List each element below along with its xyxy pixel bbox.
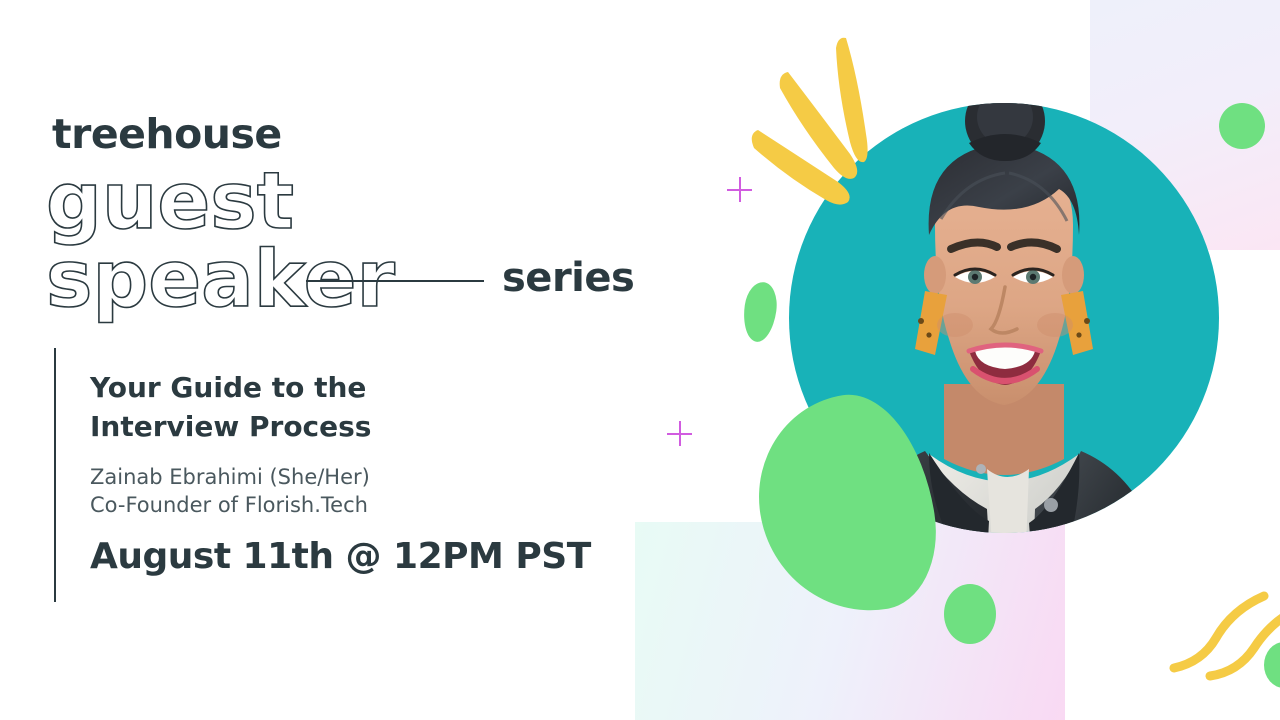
speaker-name: Zainab Ebrahimi (She/Her)	[90, 462, 550, 493]
green-dot-top-right-icon	[1219, 103, 1265, 149]
event-datetime: August 11th @ 12PM PST	[90, 536, 591, 577]
series-row: series	[306, 255, 626, 305]
slide-canvas: treehouse guest speaker series Your Guid…	[0, 0, 1280, 720]
series-label: series	[502, 255, 634, 301]
green-dot-icon	[944, 584, 996, 644]
content-column: treehouse guest speaker series Your Guid…	[0, 0, 660, 720]
brand-logo-text: treehouse	[52, 110, 282, 158]
series-divider	[306, 280, 484, 282]
vertical-accent-rule	[54, 348, 56, 602]
yellow-sparkle-icon	[740, 30, 920, 260]
pink-cross-icon	[667, 421, 692, 446]
talk-title: Your Guide to the Interview Process	[90, 369, 520, 446]
speaker-role: Co-Founder of Florish.Tech	[90, 490, 550, 521]
pink-cross-icon	[727, 177, 752, 202]
yellow-squiggle-icon	[1160, 590, 1280, 700]
